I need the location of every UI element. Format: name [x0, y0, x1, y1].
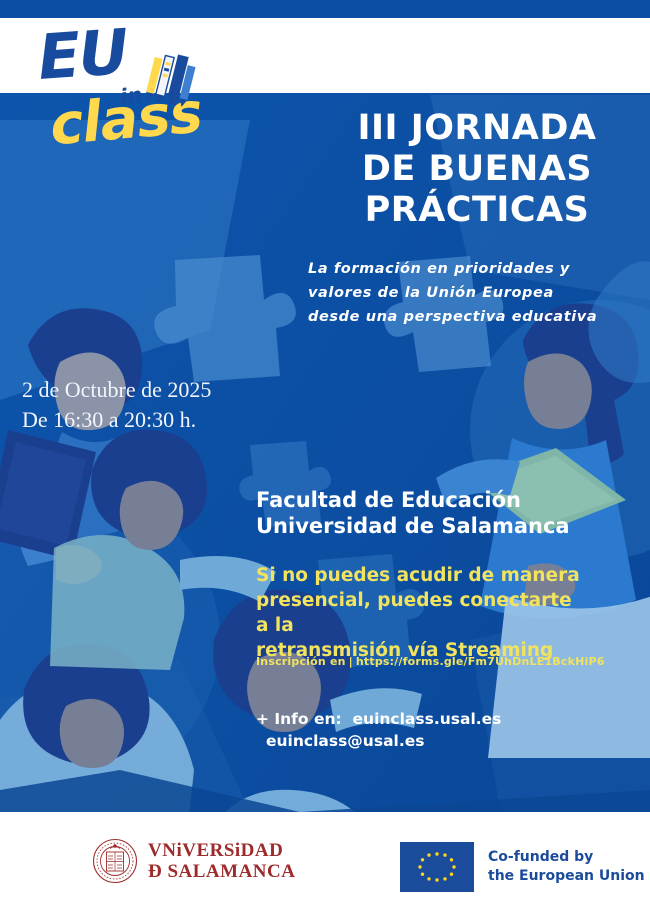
registration-separator: | — [346, 655, 356, 668]
subheadline-line-3: desde una perspectiva educativa — [308, 305, 628, 329]
streaming-line-1: Si no puedes acudir de manera — [256, 563, 586, 588]
event-venue-block: Facultad de Educación Universidad de Sal… — [256, 487, 596, 539]
venue-university: Universidad de Salamanca — [256, 513, 596, 539]
info-email[interactable]: euinclass@usal.es — [256, 730, 424, 752]
registration-url[interactable]: https://forms.gle/Fm7UhDnLE1BckHiP6 — [356, 655, 605, 668]
poster-footer: VNiVERSiDAD Ð SALAMANCA — [0, 812, 650, 920]
event-time: De 16:30 a 20:30 h. — [22, 405, 282, 435]
info-website[interactable]: euinclass.usal.es — [353, 710, 502, 728]
usal-line-1: VNiVERSiDAD — [148, 840, 295, 861]
usal-crest-icon — [92, 838, 138, 884]
top-blue-band — [0, 0, 650, 18]
logo-text-eu: EU — [36, 21, 129, 89]
usal-logo: VNiVERSiDAD Ð SALAMANCA — [92, 838, 295, 884]
headline-line-2: DE BUENAS — [322, 149, 632, 190]
subheadline-line-1: La formación en prioridades y — [308, 257, 628, 281]
poster-subheadline: La formación en prioridades y valores de… — [308, 257, 628, 329]
streaming-notice: Si no puedes acudir de manera presencial… — [256, 563, 586, 663]
pencils-icon — [142, 48, 204, 110]
poster-headline: III JORNADA DE BUENAS PRÁCTICAS — [322, 108, 632, 231]
registration-label: Inscripción en — [256, 655, 346, 668]
eu-funding-line-1: Co-funded by — [488, 848, 645, 867]
eu-in-class-logo: EU in class — [34, 22, 209, 142]
event-date-block: 2 de Octubre de 2025 De 16:30 a 20:30 h. — [22, 375, 282, 435]
streaming-line-2: presencial, puedes conectarte a la — [256, 588, 586, 638]
venue-faculty: Facultad de Educación — [256, 487, 596, 513]
eu-funding-badge: Co-funded by the European Union — [400, 842, 645, 892]
poster-canvas: EU in class III JORNADA DE BUENAS PRÁCTI… — [0, 0, 650, 920]
eu-funding-text: Co-funded by the European Union — [488, 848, 645, 886]
usal-logo-text: VNiVERSiDAD Ð SALAMANCA — [148, 840, 295, 882]
contact-info-block: + Info en: euinclass.usal.es euinclass@u… — [256, 708, 586, 752]
eu-funding-line-2: the European Union — [488, 867, 645, 886]
usal-line-2: Ð SALAMANCA — [148, 861, 295, 882]
info-label: + Info en: — [256, 710, 342, 728]
registration-line: Inscripción en|https://forms.gle/Fm7UhDn… — [256, 654, 606, 670]
headline-line-3: PRÁCTICAS — [322, 190, 632, 231]
event-date: 2 de Octubre de 2025 — [22, 375, 282, 405]
headline-line-1: III JORNADA — [322, 108, 632, 149]
eu-flag-icon — [400, 842, 474, 892]
subheadline-line-2: valores de la Unión Europea — [308, 281, 628, 305]
